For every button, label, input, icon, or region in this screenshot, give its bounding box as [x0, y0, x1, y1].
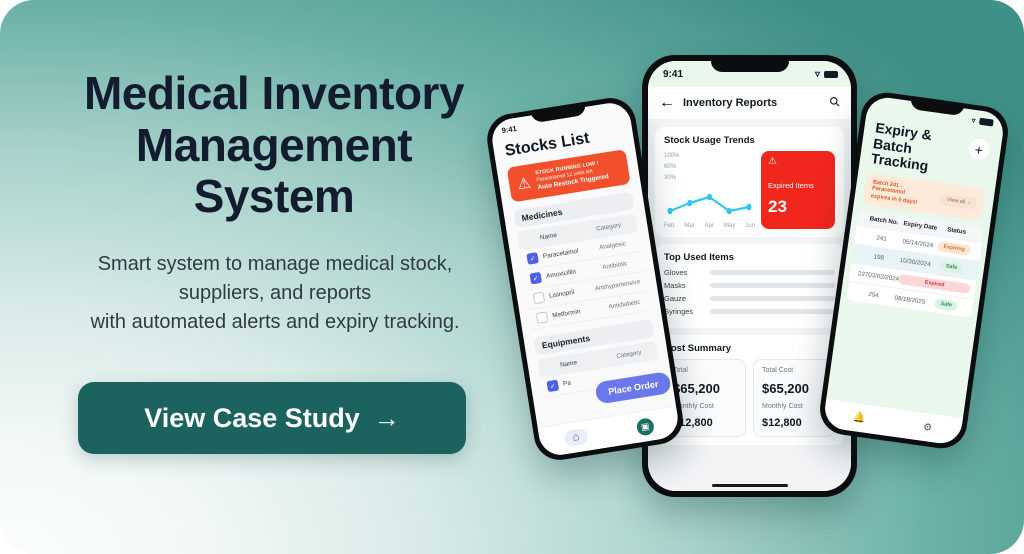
row-checkbox[interactable]: ✓ [526, 252, 539, 265]
chevron-right-icon: › [968, 200, 971, 206]
monthly-cost-value: $12,800 [762, 417, 826, 429]
column-status: Status [938, 225, 975, 237]
hero-text-panel: Medical Inventory Management System Smar… [0, 0, 520, 554]
view-all-label: View all [946, 197, 965, 206]
section-title: Stock Usage Trends [664, 135, 835, 146]
view-case-study-button[interactable]: View Case Study → [78, 382, 466, 454]
add-batch-button[interactable]: + [967, 138, 991, 162]
row-checkbox[interactable]: ✓ [547, 380, 560, 393]
status-badge: Safe [934, 298, 959, 311]
list-item: Masks [664, 281, 835, 290]
monthly-cost-label: Monthly Cost [673, 403, 737, 410]
status-badge: Safe [939, 261, 964, 274]
batch-no: 198 [860, 251, 897, 263]
gear-icon[interactable]: ⚙ [922, 421, 932, 433]
column-expiry-date: Expiry Date [902, 220, 939, 232]
cost-label: Total [673, 367, 737, 374]
batch-no: 254 [855, 289, 892, 301]
promo-banner: Medical Inventory Management System Smar… [0, 0, 1024, 554]
status-badge: Expiring [937, 241, 972, 256]
top-used-items-card: Top Used Items Gloves Masks Gauze [655, 244, 844, 328]
y-axis-labels: 100% 60% 30% [664, 151, 679, 184]
list-item: Gloves [664, 268, 835, 277]
subtitle-line-2: suppliers, and reports [40, 279, 510, 308]
medicine-category: Antibiotic [602, 259, 638, 271]
item-name: Gauze [664, 294, 704, 303]
medicine-category: Antihypertensive [594, 278, 640, 292]
bell-icon[interactable]: 🔔 [852, 412, 866, 425]
status-time: 9:41 [501, 123, 517, 134]
page-title: Medical Inventory Management System [54, 68, 494, 223]
expired-items-label: Expired Items [768, 181, 828, 190]
x-tick: Feb [664, 223, 674, 229]
section-title: Top Used Items [664, 252, 835, 263]
arrow-right-icon: → [374, 403, 400, 434]
y-tick: 60% [664, 162, 679, 173]
column-category: Category [596, 220, 632, 232]
column-batch-no: Batch No. [865, 215, 902, 227]
batch-no: 241 [863, 232, 900, 244]
item-name: Syringes [664, 307, 704, 316]
x-tick: Jun [745, 223, 755, 229]
expired-items-card[interactable]: ⚠ Expired Items 23 [761, 151, 835, 229]
medicine-name: Metformin [552, 304, 604, 319]
notch [711, 55, 789, 72]
cost-value: $65,200 [673, 381, 737, 396]
progress-track [710, 270, 835, 275]
battery-icon [979, 117, 994, 126]
wifi-icon: ▿ [815, 69, 820, 80]
x-tick: Apr [705, 223, 714, 229]
home-indicator [712, 484, 788, 487]
screen-title: Expiry & Batch Tracking [870, 120, 971, 180]
x-tick: May [724, 223, 735, 229]
medicine-name: Paracetamol [542, 245, 594, 260]
progress-track [710, 283, 835, 288]
medicine-name: Amoxicillin [546, 265, 598, 280]
subtitle-line-3: with automated alerts and expiry trackin… [40, 308, 510, 337]
expiry-date: 08/18/2025 [891, 294, 928, 306]
warning-triangle-icon: ⚠ [516, 173, 532, 193]
row-checkbox[interactable] [533, 292, 546, 305]
stock-usage-card: Stock Usage Trends 100% 60% 30% [655, 127, 844, 237]
status-cell: Expiring [935, 241, 973, 256]
app-bar: ← Inventory Reports [648, 87, 851, 119]
column-name: Name [560, 354, 612, 369]
status-time: 9:41 [663, 69, 683, 80]
cost-label: Total Cost [762, 367, 826, 374]
cost-value: $65,200 [762, 381, 826, 396]
x-axis-labels: Feb Mar Apr May Jun [664, 223, 755, 229]
back-icon[interactable]: ← [659, 94, 675, 112]
expiry-date: 05/14/2024 [899, 237, 936, 249]
medicine-category: Antidiabetic [608, 298, 644, 310]
column-name: Name [539, 226, 591, 241]
subtitle-line-1: Smart system to manage medical stock, [40, 250, 510, 279]
cta-label: View Case Study [144, 403, 360, 434]
hero-subtitle: Smart system to manage medical stock, su… [40, 250, 510, 337]
progress-track [710, 296, 835, 301]
wifi-icon: ▿ [971, 115, 976, 124]
medicine-name: Lisinopril [549, 286, 591, 299]
expiry-date: 10/30/2024 [897, 256, 934, 268]
list-item: Gauze [664, 294, 835, 303]
phone-mockups: 9:41 Stocks List ⚠ STOCK RUNNING LOW ! P… [500, 0, 1024, 554]
x-tick: Mar [684, 223, 694, 229]
y-tick: 30% [664, 173, 679, 184]
orders-icon[interactable]: ▣ [635, 417, 654, 436]
batch-table: Batch No. Expiry Date Status 241 05/14/2… [846, 210, 984, 319]
monthly-cost-label: Monthly Cost [762, 403, 826, 410]
screen-title: Inventory Reports [683, 97, 821, 109]
cost-summary-card: Cost Summary Total $65,200 Monthly Cost … [655, 335, 844, 445]
progress-track [710, 309, 835, 314]
home-icon[interactable]: ⌂ [564, 428, 589, 447]
status-icons: ▿ [815, 69, 838, 80]
stock-usage-chart: 100% 60% 30% [664, 151, 755, 229]
column-category: Category [616, 348, 652, 360]
section-title: Cost Summary [664, 343, 835, 354]
row-checkbox[interactable]: ✓ [529, 272, 542, 285]
status-cell: Safe [933, 260, 971, 275]
medicine-category: Analgesic [599, 239, 635, 251]
item-name: Masks [664, 281, 704, 290]
list-item: Syringes [664, 307, 835, 316]
row-checkbox[interactable] [536, 311, 549, 324]
medicines-table: Name Category ✓ Paracetamol Analgesic ✓ … [517, 213, 651, 330]
warning-triangle-icon: ⚠ [768, 157, 828, 167]
search-icon[interactable] [829, 94, 840, 112]
expired-items-value: 23 [768, 197, 828, 217]
battery-icon [824, 71, 838, 78]
item-name: Gloves [664, 268, 704, 277]
expiry-date: 03/02/2024 [868, 271, 900, 282]
y-tick: 100% [664, 151, 679, 162]
view-all-button[interactable]: View all › [939, 193, 978, 210]
status-cell: Safe [927, 297, 965, 312]
